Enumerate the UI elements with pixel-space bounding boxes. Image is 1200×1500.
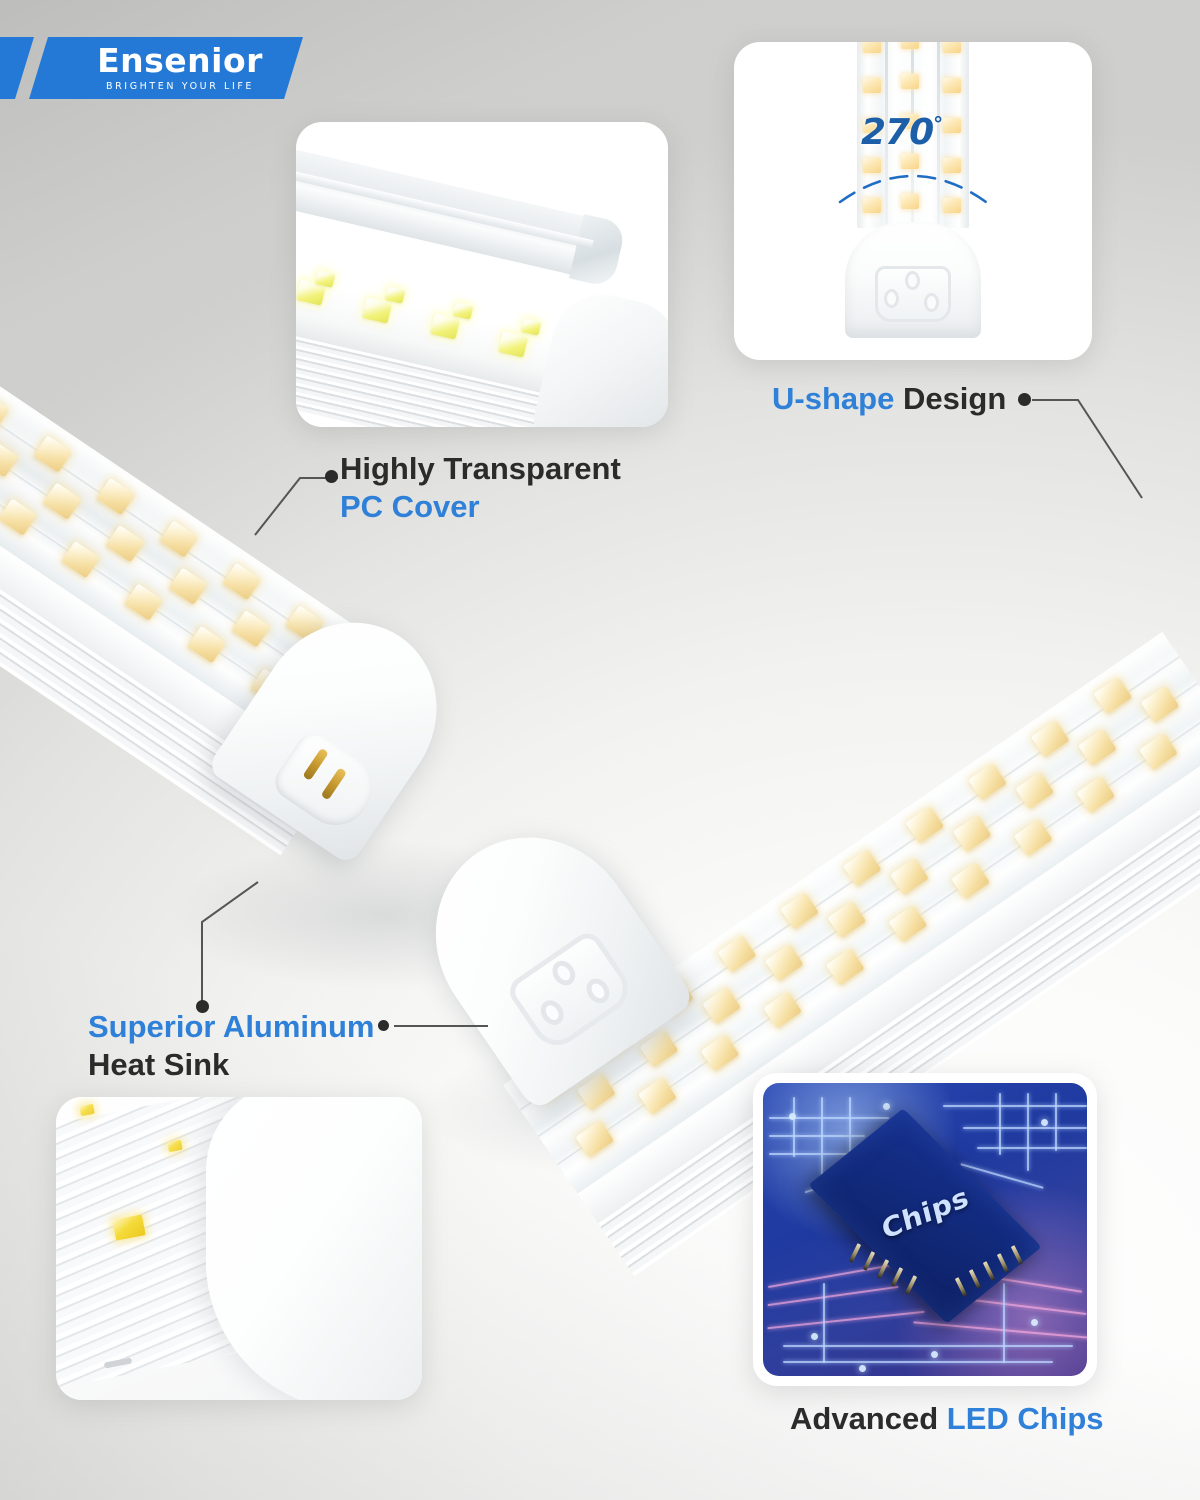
callout-u-shape: U-shape Design [772, 380, 1006, 418]
callout-heat-line2: Heat Sink [88, 1047, 229, 1082]
beam-angle-unit: ° [933, 112, 942, 136]
inset-card-led-chips: Chips [753, 1073, 1097, 1386]
u-socket-hole-left [884, 289, 899, 308]
gold-pin-1 [302, 748, 328, 781]
callout-chips-word2: LED Chips [947, 1401, 1104, 1436]
u-socket-hole-right [924, 293, 939, 312]
beam-angle-label: 270° [861, 112, 942, 153]
leader-dot-pc-cover [325, 470, 338, 483]
callout-pc-line2: PC Cover [340, 489, 480, 524]
leader-line-heat-sink [180, 880, 290, 1015]
logo-accent-slice [0, 37, 34, 99]
leader-dot-u-shape [1018, 393, 1031, 406]
callout-led-chips: Advanced LED Chips [790, 1400, 1104, 1438]
circuit-board-image: Chips [763, 1083, 1087, 1376]
heat-sink-endcap [206, 1097, 422, 1400]
socket-hole-right [582, 974, 614, 1007]
callout-heat-line1: Superior Aluminum [88, 1009, 374, 1044]
inset-card-u-shape: 270° [734, 42, 1092, 360]
logo-banner [29, 37, 303, 99]
leader-dot-heat-sink-right [378, 1020, 389, 1031]
bi-pin-head [269, 727, 386, 838]
callout-pc-cover: Highly Transparent PC Cover [340, 450, 621, 526]
beam-angle-value: 270 [861, 112, 933, 153]
infographic-canvas: Ensenior BRIGHTEN YOUR LIFE [0, 0, 1200, 1500]
brand-logo: Ensenior BRIGHTEN YOUR LIFE [0, 37, 310, 99]
gold-pin-2 [321, 767, 347, 800]
callout-heat-sink: Superior Aluminum Heat Sink [88, 1008, 374, 1084]
u-shape-endcap [845, 222, 981, 338]
tube-endcap-inset [531, 285, 668, 427]
u-shape-socket-face [875, 266, 951, 322]
leader-line-u-shape [1030, 390, 1160, 520]
inset-card-pc-cover [296, 122, 668, 427]
callout-pc-line1: Highly Transparent [340, 451, 621, 486]
socket-face [504, 927, 638, 1055]
callout-chips-word1: Advanced [790, 1401, 938, 1436]
u-socket-hole-top [905, 271, 920, 290]
callout-ushape-word1: U-shape [772, 381, 894, 416]
inset-card-heat-sink [56, 1097, 422, 1400]
callout-ushape-word2: Design [903, 381, 1006, 416]
socket-hole-top [548, 956, 580, 989]
socket-hole-left [536, 996, 568, 1029]
